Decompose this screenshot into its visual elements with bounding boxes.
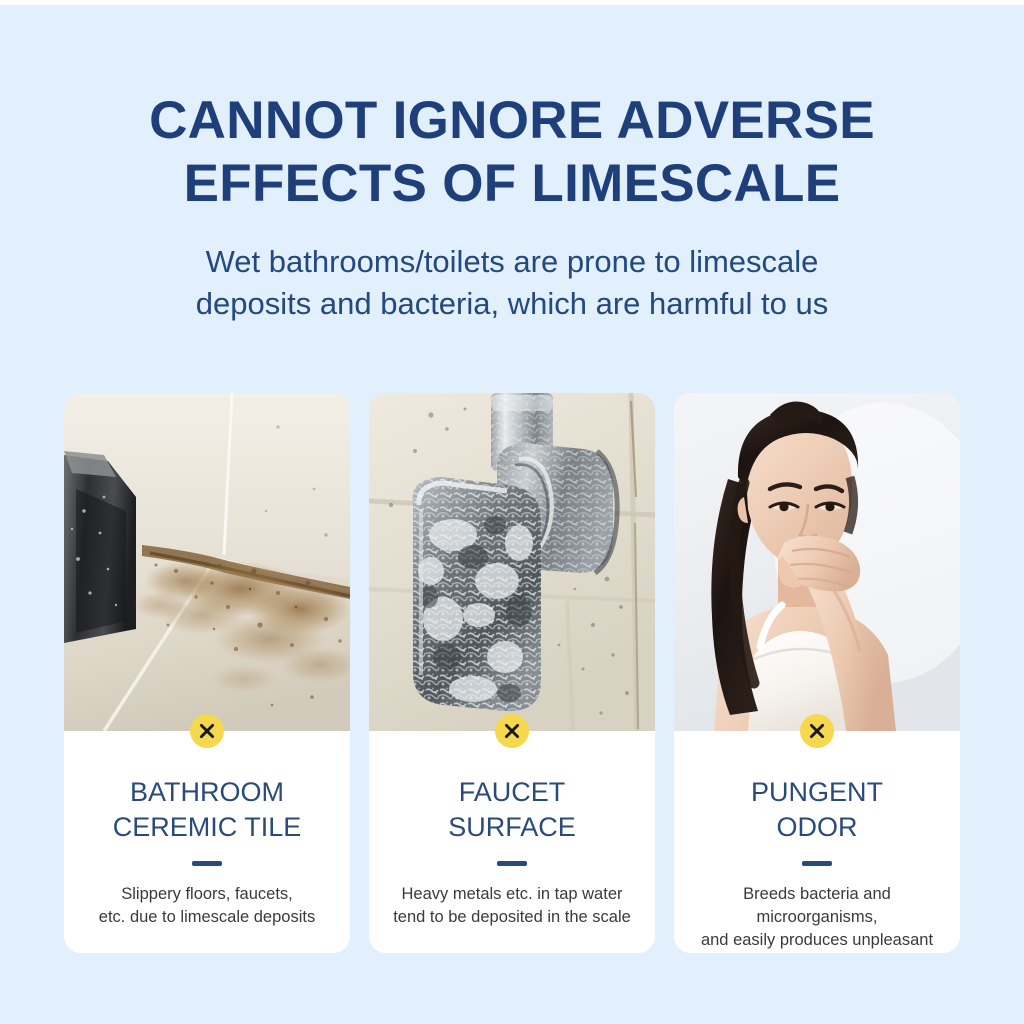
x-mark-badge xyxy=(190,714,224,748)
x-mark-icon xyxy=(198,722,216,740)
card-bathroom-ceremic-tile[interactable]: BATHROOM CEREMIC TILE Slippery floors, f… xyxy=(64,393,350,953)
card-description: Breeds bacteria and microorganisms, and … xyxy=(686,883,948,953)
card-description: Heavy metals etc. in tap water tend to b… xyxy=(381,883,643,929)
title-divider xyxy=(192,861,222,866)
x-mark-badge xyxy=(800,714,834,748)
card-title: PUNGENT ODOR xyxy=(686,775,948,845)
card-row: BATHROOM CEREMIC TILE Slippery floors, f… xyxy=(64,393,960,953)
top-white-strip xyxy=(0,0,1024,5)
card-title: FAUCET SURFACE xyxy=(381,775,643,845)
x-mark-icon xyxy=(808,722,826,740)
title-divider xyxy=(497,861,527,866)
header: CANNOT IGNORE ADVERSE EFFECTS OF LIMESCA… xyxy=(0,5,1024,325)
card-faucet-surface[interactable]: FAUCET SURFACE Heavy metals etc. in tap … xyxy=(369,393,655,953)
x-mark-icon xyxy=(503,722,521,740)
card-body: BATHROOM CEREMIC TILE Slippery floors, f… xyxy=(64,731,350,953)
card-title: BATHROOM CEREMIC TILE xyxy=(76,775,338,845)
card-body: FAUCET SURFACE Heavy metals etc. in tap … xyxy=(369,731,655,953)
dirty-bathroom-tile-corner-photo xyxy=(64,393,350,731)
title-divider xyxy=(802,861,832,866)
page-subtitle: Wet bathrooms/toilets are prone to limes… xyxy=(0,241,1024,325)
card-pungent-odor[interactable]: PUNGENT ODOR Breeds bacteria and microor… xyxy=(674,393,960,953)
limescale-infographic-poster: CANNOT IGNORE ADVERSE EFFECTS OF LIMESCA… xyxy=(0,0,1024,1024)
card-description: Slippery floors, faucets, etc. due to li… xyxy=(76,883,338,929)
card-body: PUNGENT ODOR Breeds bacteria and microor… xyxy=(674,731,960,953)
x-mark-badge xyxy=(495,714,529,748)
woman-pinching-nose-photo xyxy=(674,393,960,731)
page-title: CANNOT IGNORE ADVERSE EFFECTS OF LIMESCA… xyxy=(0,89,1024,215)
limescale-encrusted-faucet-photo xyxy=(369,393,655,731)
